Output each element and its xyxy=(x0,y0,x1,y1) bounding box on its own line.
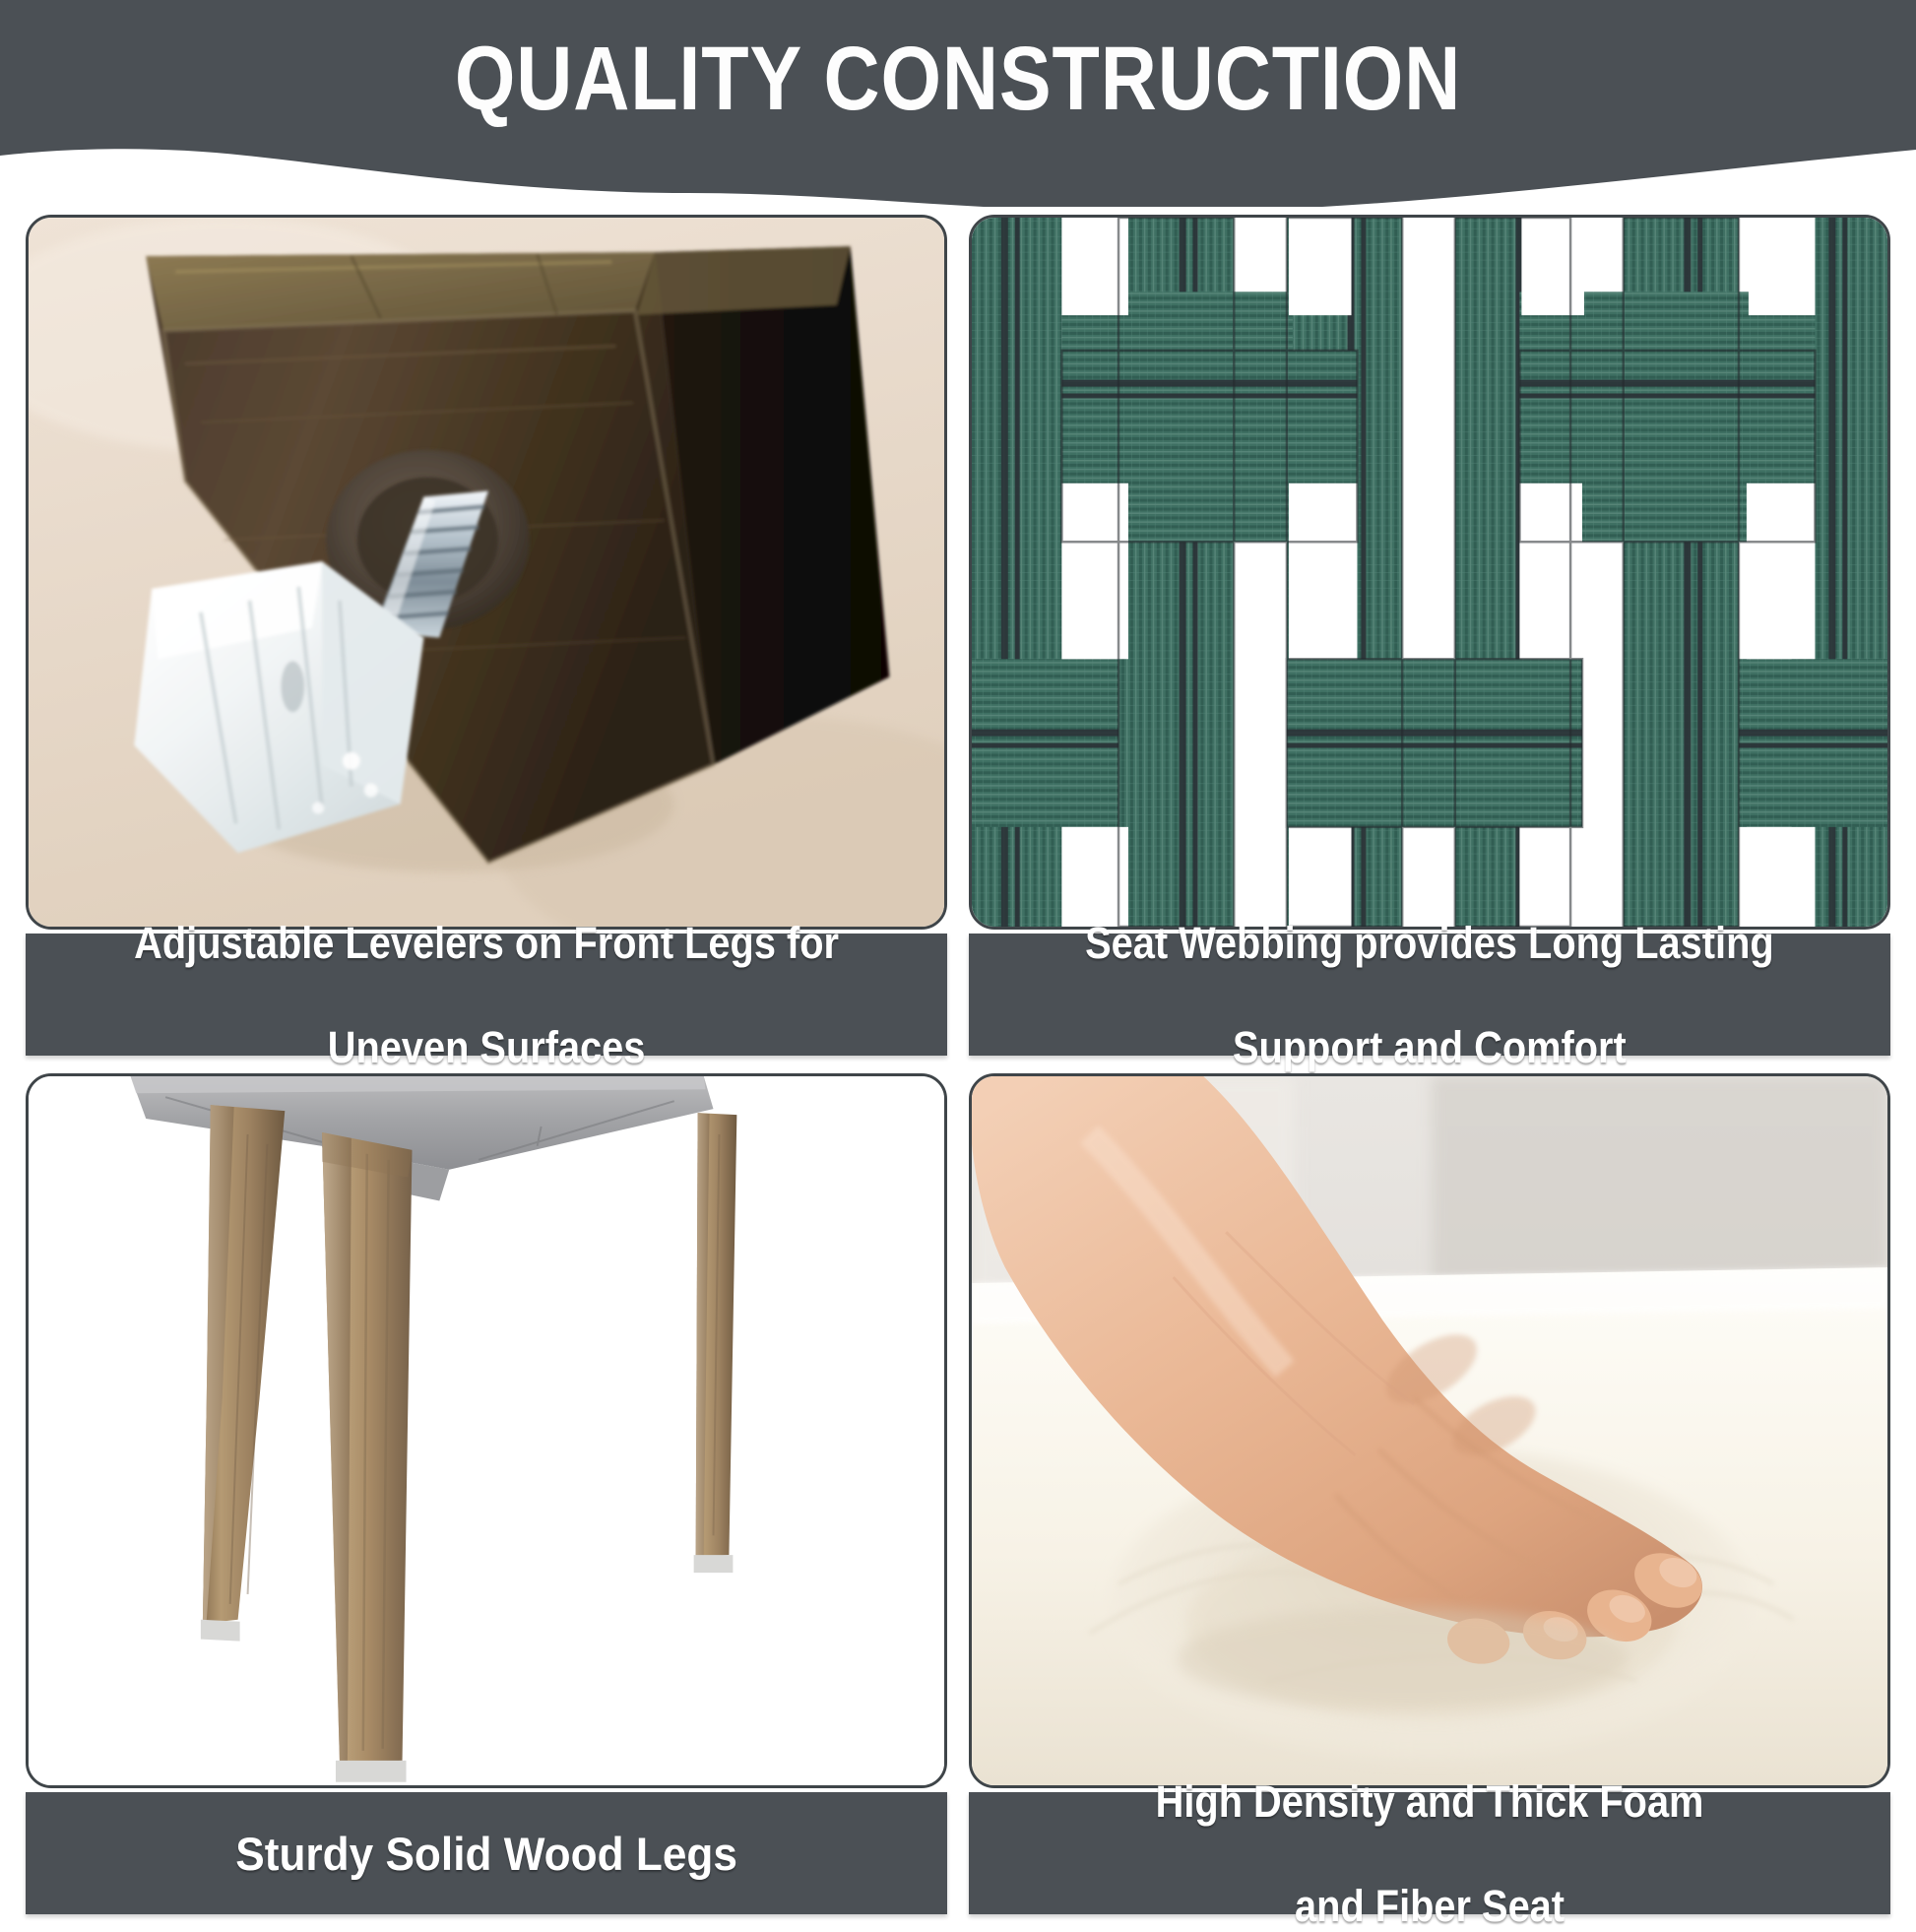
feature-panel-seat-webbing[interactable]: Seat Webbing provides Long Lasting Suppo… xyxy=(969,215,1890,1057)
levelers-illustration xyxy=(29,218,944,927)
webbing-photo xyxy=(969,215,1890,930)
seat-webbing-illustration xyxy=(972,218,1887,927)
foam-photo xyxy=(969,1073,1890,1788)
caption-adjustable-levelers: Adjustable Levelers on Front Legs for Un… xyxy=(26,934,947,1056)
levelers-photo xyxy=(26,215,947,930)
caption-line-1: Adjustable Levelers on Front Legs for xyxy=(134,917,839,969)
wood-legs-illustration xyxy=(29,1076,944,1785)
caption-line-1: Seat Webbing provides Long Lasting xyxy=(1085,917,1774,969)
caption-seat-webbing: Seat Webbing provides Long Lasting Suppo… xyxy=(969,934,1890,1056)
feature-panel-adjustable-levelers[interactable]: Adjustable Levelers on Front Legs for Un… xyxy=(26,215,947,1057)
caption-solid-wood-legs: Sturdy Solid Wood Legs xyxy=(26,1792,947,1914)
page-title: QUALITY CONSTRUCTION xyxy=(134,28,1782,130)
caption-line-2: Support and Comfort xyxy=(1085,1021,1774,1073)
caption-line-2: and Fiber Seat xyxy=(1156,1880,1704,1932)
wood-legs-photo xyxy=(26,1073,947,1788)
foam-press-illustration xyxy=(972,1076,1887,1785)
feature-panel-high-density-foam[interactable]: High Density and Thick Foam and Fiber Se… xyxy=(969,1073,1890,1915)
page-header: QUALITY CONSTRUCTION xyxy=(0,0,1916,207)
caption-line-1: Sturdy Solid Wood Legs xyxy=(235,1828,737,1880)
caption-line-2: Uneven Surfaces xyxy=(134,1021,839,1073)
caption-high-density-foam: High Density and Thick Foam and Fiber Se… xyxy=(969,1792,1890,1914)
feature-panel-solid-wood-legs[interactable]: Sturdy Solid Wood Legs xyxy=(26,1073,947,1915)
caption-line-1: High Density and Thick Foam xyxy=(1156,1775,1704,1828)
feature-grid: Adjustable Levelers on Front Legs for Un… xyxy=(0,197,1916,1916)
